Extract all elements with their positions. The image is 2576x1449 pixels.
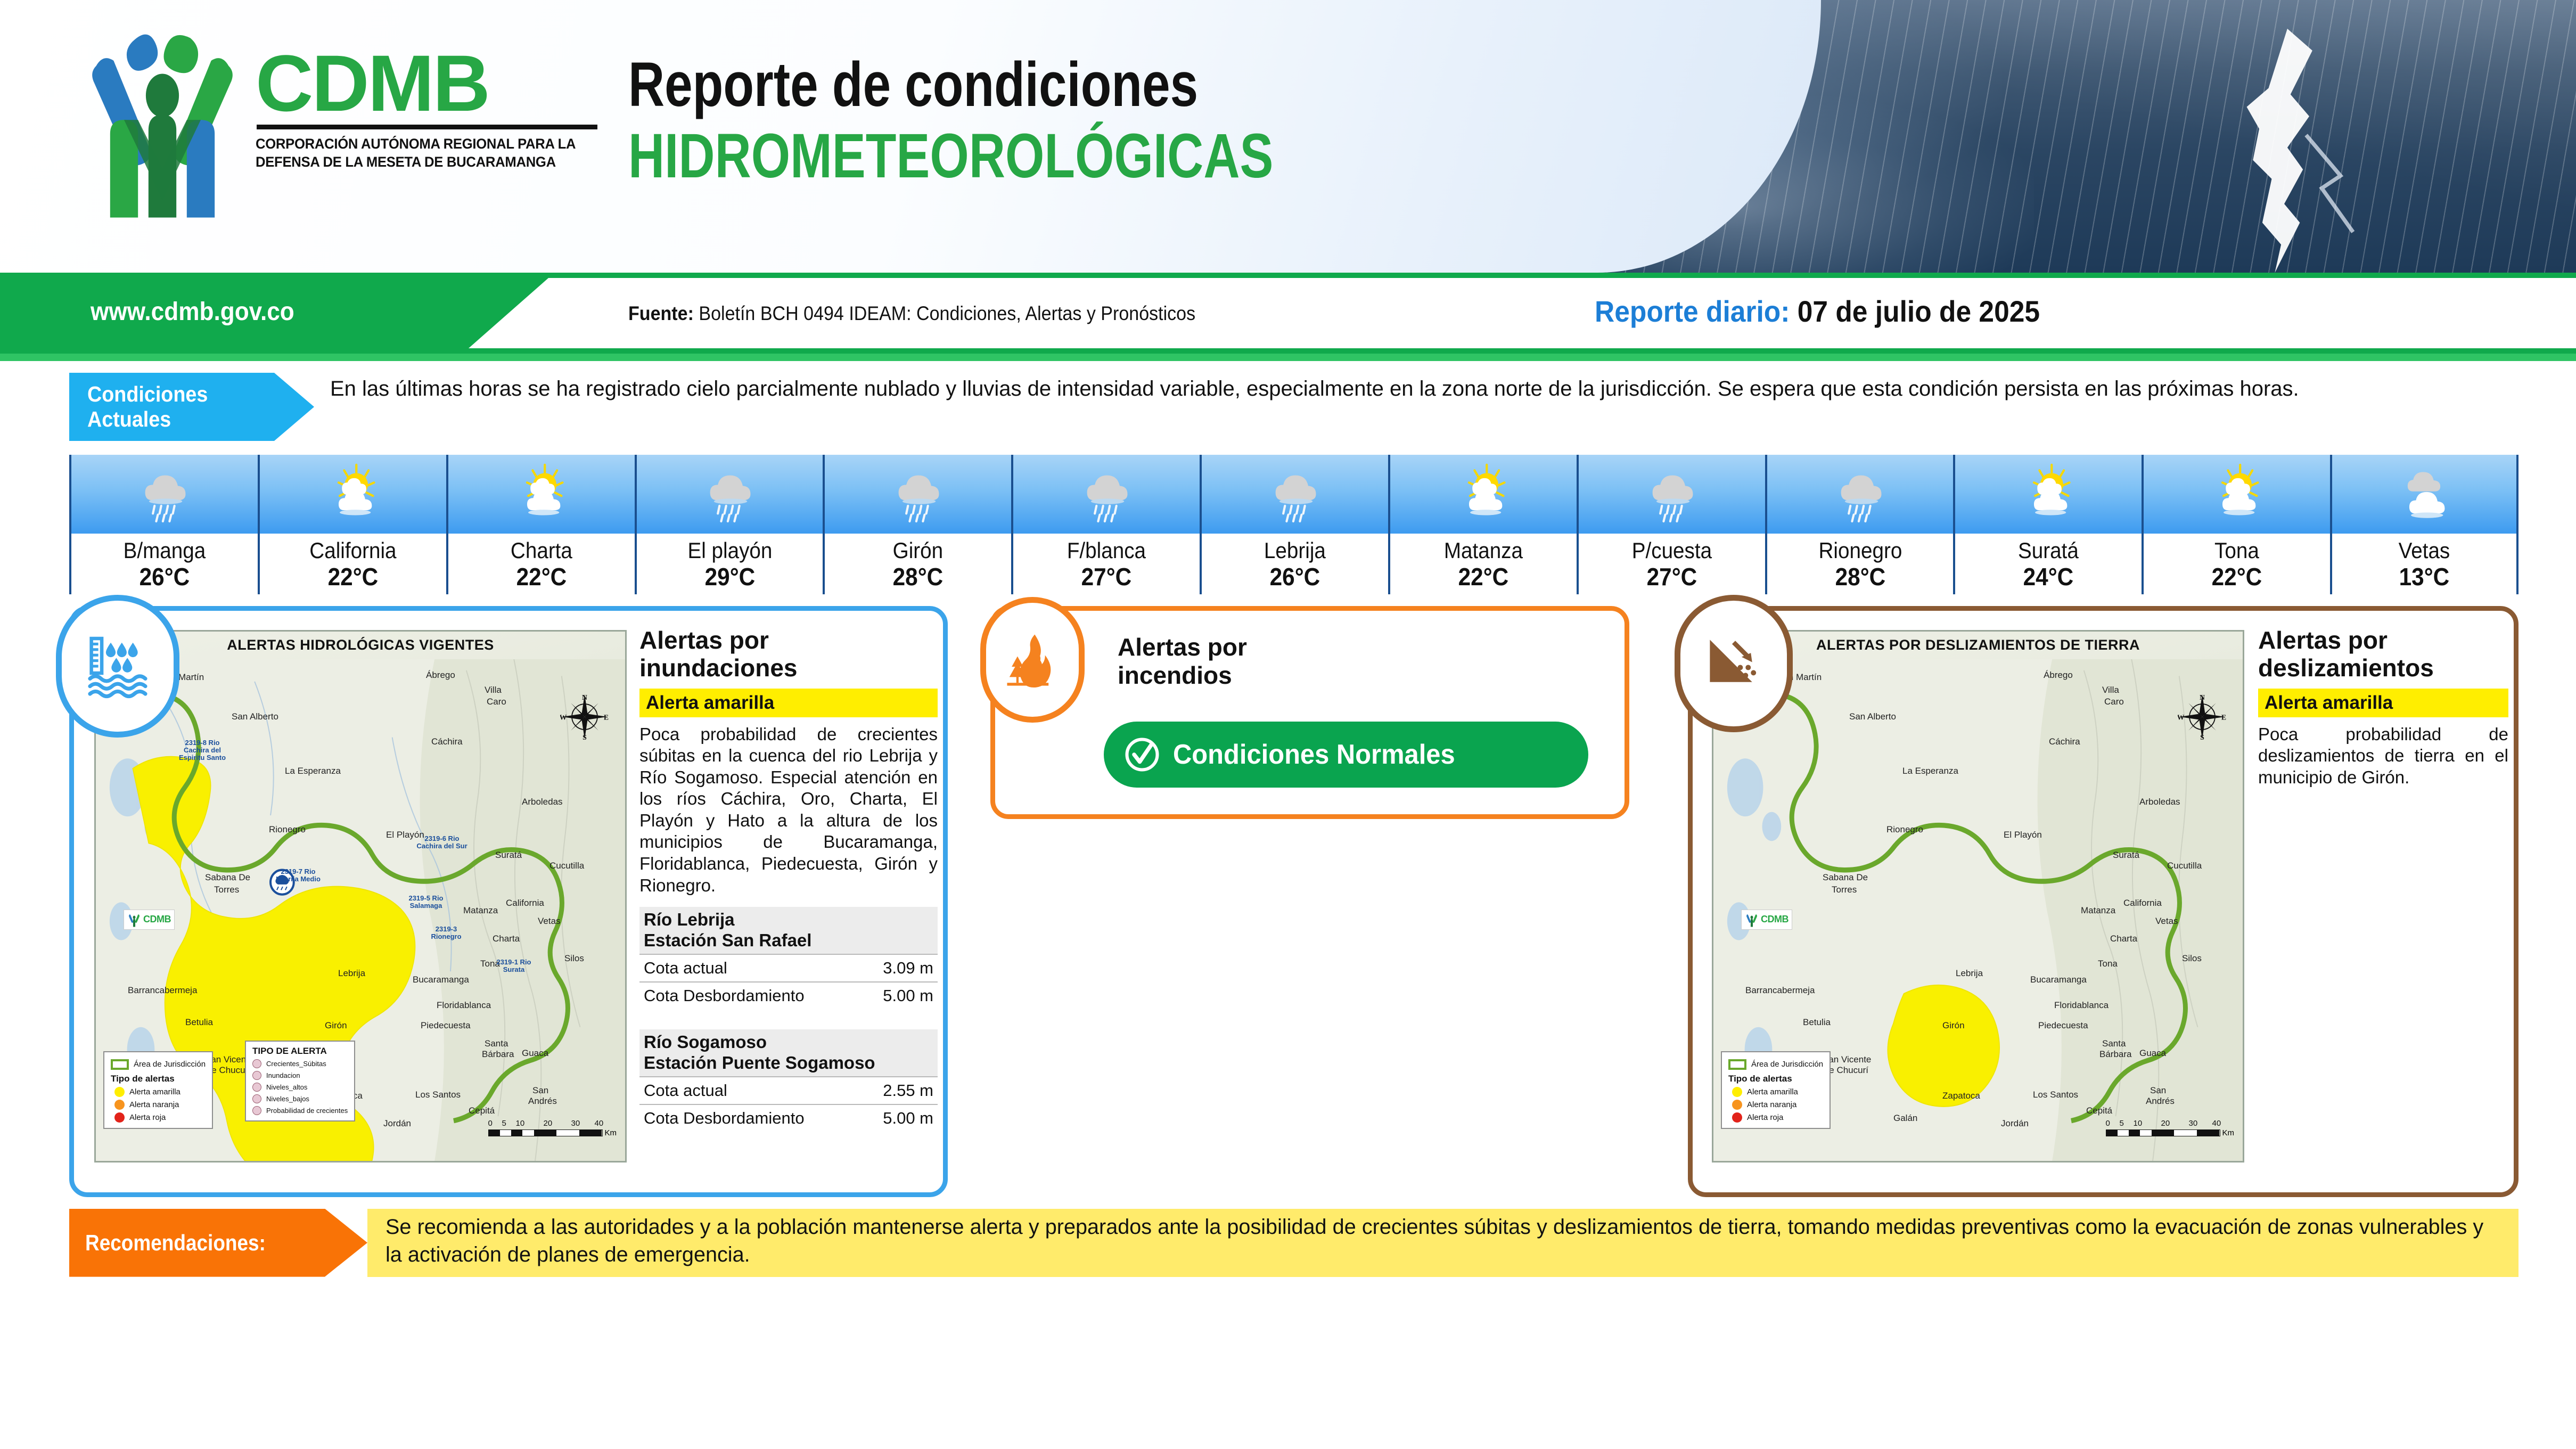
map-river-label: 2319-1 Rio Surata bbox=[487, 959, 540, 974]
alert-type-symbol-icon bbox=[252, 1094, 261, 1103]
municipality-name: Matanza bbox=[1398, 539, 1569, 562]
recommendations-tag-label: Recomendaciones: bbox=[85, 1230, 266, 1256]
svg-text:E: E bbox=[2221, 713, 2226, 721]
scale-tick: 0 bbox=[2106, 1119, 2110, 1128]
municipality-name: Charta bbox=[456, 539, 627, 562]
flood-station-tables: Río Lebrija Estación San Rafael Cota act… bbox=[639, 907, 938, 1132]
station-table: Río Sogamoso Estación Puente Sogamoso Co… bbox=[639, 1029, 938, 1132]
map-place-label: Floridablanca bbox=[437, 1000, 491, 1011]
map-place-label: Guaca bbox=[522, 1048, 548, 1059]
weather-icon-slot bbox=[1388, 455, 1577, 534]
alert-type-item: Niveles_altos bbox=[252, 1083, 348, 1092]
map-place-label: Barrancabermeja bbox=[128, 985, 197, 996]
map-place-label: San Alberto bbox=[232, 711, 278, 722]
temperature-cell-pcuesta[interactable]: P/cuesta 27°C bbox=[1577, 455, 1765, 594]
legend-color-dot bbox=[114, 1100, 125, 1110]
landslide-legend-jurisdiction-row: Área de Jurisdicción bbox=[1728, 1059, 1823, 1070]
svg-text:W: W bbox=[2178, 713, 2185, 721]
station-river: Río Sogamoso bbox=[644, 1032, 933, 1053]
rain-cloud-icon bbox=[1644, 463, 1700, 525]
flood-heading-line1: Alertas por bbox=[639, 627, 938, 654]
landslide-alert-level-badge: Alerta amarilla bbox=[2258, 689, 2508, 717]
alert-type-symbol-icon bbox=[252, 1106, 261, 1115]
legend-item: Alerta naranja bbox=[111, 1100, 206, 1110]
map-place-label: Santa bbox=[2102, 1038, 2126, 1049]
station-row-label: Cota actual bbox=[639, 1077, 860, 1104]
station-name: Estación Puente Sogamoso bbox=[644, 1053, 933, 1074]
municipality-temperature: 22°C bbox=[456, 563, 627, 591]
fire-heading: Alertas por incendios bbox=[1118, 633, 1247, 690]
landslide-heading-line2: deslizamientos bbox=[2258, 654, 2508, 682]
map-river-label: 2319-3 Rionegro bbox=[420, 926, 473, 941]
landslide-map-title: ALERTAS POR DESLIZAMIENTOS DE TIERRA bbox=[1713, 637, 2243, 653]
alert-type-label: Crecientes_Súbitas bbox=[266, 1060, 326, 1068]
current-conditions-tag: Condiciones Actuales bbox=[69, 373, 314, 441]
alert-type-label: Inundacion bbox=[266, 1071, 300, 1079]
map-place-label: Los Santos bbox=[415, 1090, 461, 1100]
map-place-label: Lebrija bbox=[1956, 968, 1983, 979]
map-river-label: 2319-8 Rio Cachira del Espiritu Santo bbox=[176, 739, 229, 762]
flood-description: Poca probabilidad de crecientes súbitas … bbox=[639, 724, 938, 897]
map-place-label: Ábrego bbox=[426, 670, 455, 681]
landslide-alert-panel: ALERTAS POR DESLIZAMIENTOS DE TIERRA bbox=[1688, 606, 2518, 1197]
map-place-label: Betulia bbox=[1803, 1017, 1831, 1028]
map-logo-text: CDMB bbox=[143, 914, 171, 925]
flood-heading-line2: inundaciones bbox=[639, 654, 938, 682]
jurisdiction-label: Área de Jurisdicción bbox=[134, 1060, 206, 1069]
municipality-temperature: 28°C bbox=[832, 563, 1004, 591]
map-place-label: Zapatoca bbox=[1942, 1091, 1980, 1101]
municipality-temperature: 27°C bbox=[1021, 563, 1192, 591]
alert-type-label: Niveles_altos bbox=[266, 1083, 307, 1091]
weather-icon-slot bbox=[446, 455, 635, 534]
map-place-label: Cáchira bbox=[431, 736, 463, 747]
station-row-value: 5.00 m bbox=[860, 982, 938, 1009]
alert-type-item: Niveles_bajos bbox=[252, 1094, 348, 1103]
alert-type-item: Crecientes_Súbitas bbox=[252, 1059, 348, 1068]
municipality-name: Rionegro bbox=[1775, 539, 1946, 562]
compass-rose-icon: N S W E bbox=[560, 692, 609, 744]
scale-tick: 10 bbox=[516, 1119, 525, 1128]
municipality-temperature: 22°C bbox=[267, 563, 439, 591]
scale-tick: 30 bbox=[2189, 1119, 2198, 1128]
station-row: Cota actual 3.09 m bbox=[639, 954, 938, 982]
municipality-temperature: 26°C bbox=[1209, 563, 1381, 591]
sun-behind-cloud-icon bbox=[2209, 463, 2265, 525]
landslide-map-legend: Área de Jurisdicción Tipo de alertas Ale… bbox=[1721, 1051, 1831, 1129]
sun-behind-cloud-icon bbox=[1456, 463, 1511, 525]
flood-badge bbox=[56, 595, 179, 738]
recommendations-tag: Recomendaciones: bbox=[69, 1209, 367, 1277]
legend-color-dot bbox=[1732, 1112, 1742, 1123]
title-line-1: Reporte de condiciones bbox=[628, 53, 1273, 116]
landslide-map-cdmb-logo: CDMB bbox=[1741, 910, 1792, 930]
report-date-label: Reporte diario: bbox=[1595, 294, 1790, 328]
website-url[interactable]: www.cdmb.gov.co bbox=[91, 297, 294, 326]
map-place-label: Sabana De bbox=[1823, 872, 1868, 883]
map-place-label: Guaca bbox=[2139, 1048, 2166, 1059]
station-river: Río Lebrija bbox=[644, 910, 933, 930]
logo-subtitle-line1: CORPORACIÓN AUTÓNOMA REGIONAL PARA LA bbox=[256, 135, 595, 153]
landslide-jurisdiction-label: Área de Jurisdicción bbox=[1751, 1060, 1823, 1069]
flood-alert-level-badge: Alerta amarilla bbox=[639, 689, 938, 717]
municipality-name: Tona bbox=[2151, 539, 2323, 562]
info-band: www.cdmb.gov.co Fuente: Boletín BCH 0494… bbox=[0, 273, 2576, 354]
legend-color-dot bbox=[1732, 1087, 1742, 1097]
municipality-temperature: 27°C bbox=[1586, 563, 1758, 591]
svg-text:S: S bbox=[2200, 733, 2204, 741]
weather-icon-slot bbox=[69, 455, 258, 534]
fire-forest-icon bbox=[1004, 630, 1061, 690]
cdmb-logo: CDMB CORPORACIÓN AUTÓNOMA REGIONAL PARA … bbox=[75, 29, 612, 237]
map-place-label: Los Santos bbox=[2033, 1090, 2078, 1100]
temperature-cell-matanza[interactable]: Matanza 22°C bbox=[1388, 455, 1577, 594]
legend-item-label: Alerta amarilla bbox=[1747, 1087, 1798, 1096]
legend-item-label: Alerta naranja bbox=[129, 1100, 179, 1109]
temperature-cell-surat[interactable]: Suratá 24°C bbox=[1953, 455, 2142, 594]
station-row-value: 3.09 m bbox=[860, 954, 938, 982]
scale-tick: 40 bbox=[595, 1119, 604, 1128]
alert-type-item: Inundacion bbox=[252, 1071, 348, 1080]
lightning-bolt-icon bbox=[2188, 26, 2380, 273]
flood-map-scale: 0510203040 Km bbox=[488, 1119, 617, 1137]
svg-text:S: S bbox=[583, 733, 587, 741]
landslide-map-canvas: San MartínSan AlbertoLa EsperanzaÁbregoV… bbox=[1713, 659, 2243, 1161]
map-place-label: Vetas bbox=[2155, 916, 2178, 927]
map-place-label: Jordán bbox=[2001, 1118, 2029, 1129]
weather-icon-slot bbox=[1200, 455, 1388, 534]
fire-status-badge: Condiciones Normales bbox=[1104, 722, 1588, 788]
conditions-tag-line2: Actuales bbox=[87, 407, 296, 432]
municipality-temperature: 13°C bbox=[2340, 563, 2509, 591]
recommendations-body: Se recomienda a las autoridades y a la p… bbox=[367, 1209, 2518, 1277]
map-place-label: San bbox=[532, 1085, 548, 1096]
map-place-label: Rionegro bbox=[269, 824, 306, 835]
alert-panels: ALERTAS HIDROLÓGICAS VIGENTES bbox=[69, 606, 2518, 1197]
map-place-label: Girón bbox=[325, 1020, 347, 1031]
map-place-label: Silos bbox=[2182, 953, 2202, 964]
flood-map-legend: Área de Jurisdicción Tipo de alertas Ale… bbox=[103, 1051, 213, 1129]
map-place-label: Andrés bbox=[2146, 1096, 2175, 1107]
weather-icon-slot bbox=[2330, 455, 2518, 534]
page-title: Reporte de condiciones HIDROMETEOROLÓGIC… bbox=[628, 53, 1434, 190]
scale-tick: 40 bbox=[2212, 1119, 2221, 1128]
alert-type-symbol-icon bbox=[252, 1059, 261, 1068]
fire-status-text: Condiciones Normales bbox=[1173, 739, 1455, 771]
temperature-cell-elplayn[interactable]: El playón 29°C bbox=[635, 455, 823, 594]
svg-text:E: E bbox=[604, 713, 609, 721]
municipality-temperature: 29°C bbox=[644, 563, 816, 591]
sun-behind-cloud-icon bbox=[514, 463, 569, 525]
landslide-map-scale: 0510203040 Km bbox=[2106, 1119, 2235, 1137]
flood-alert-panel: ALERTAS HIDROLÓGICAS VIGENTES bbox=[69, 606, 948, 1197]
municipality-name: Suratá bbox=[1963, 539, 2134, 562]
current-conditions-text: En las últimas horas se ha registrado ci… bbox=[330, 375, 2518, 403]
map-place-label: Vetas bbox=[538, 916, 561, 927]
map-place-label: Rionegro bbox=[1886, 824, 1923, 835]
landslide-scale-unit: Km bbox=[2222, 1128, 2235, 1137]
compass-rose-icon-landslide: N S W E bbox=[2178, 692, 2227, 744]
map-place-label: Silos bbox=[564, 953, 584, 964]
map-place-label: Charta bbox=[2110, 934, 2137, 944]
map-place-label: Piedecuesta bbox=[421, 1020, 471, 1031]
map-place-label: Cepitá bbox=[469, 1106, 495, 1116]
municipality-temperature: 22°C bbox=[2151, 563, 2323, 591]
map-place-label: California bbox=[506, 898, 544, 908]
svg-text:N: N bbox=[2200, 693, 2205, 701]
municipality-name: California bbox=[267, 539, 439, 562]
weather-icon-slot bbox=[1011, 455, 1200, 534]
fire-heading-line1: Alertas por bbox=[1118, 633, 1247, 661]
station-name: Estación San Rafael bbox=[644, 930, 933, 951]
recommendations-text: Se recomienda a las autoridades y a la p… bbox=[385, 1213, 2483, 1270]
band-bottom-rule bbox=[0, 354, 2576, 361]
map-place-label: Torres bbox=[214, 885, 239, 895]
alert-type-symbol-icon bbox=[252, 1071, 261, 1080]
station-row-value: 5.00 m bbox=[860, 1104, 938, 1132]
landslide-heading-line1: Alertas por bbox=[2258, 627, 2508, 654]
sun-behind-cloud-icon bbox=[325, 463, 381, 525]
map-place-label: Caro bbox=[487, 697, 506, 707]
scale-tick-labels: 0510203040 bbox=[488, 1119, 603, 1128]
station-row-label: Cota Desbordamiento bbox=[639, 982, 860, 1009]
rain-cloud-icon bbox=[137, 463, 192, 525]
temperature-cell-tona[interactable]: Tona 22°C bbox=[2142, 455, 2330, 594]
legend-item: Alerta roja bbox=[111, 1112, 206, 1123]
map-place-label: La Esperanza bbox=[1902, 766, 1958, 776]
station-row: Cota actual 2.55 m bbox=[639, 1077, 938, 1104]
cdmb-logo-mark-icon bbox=[75, 29, 250, 221]
map-place-label: Ábrego bbox=[2044, 670, 2073, 681]
station-row-label: Cota Desbordamiento bbox=[639, 1104, 860, 1132]
municipality-name: Lebrija bbox=[1209, 539, 1381, 562]
map-place-label: Villa bbox=[2102, 685, 2119, 695]
map-place-label: Jordán bbox=[383, 1118, 411, 1129]
scale-tick: 0 bbox=[488, 1119, 493, 1128]
map-place-label: Girón bbox=[1942, 1020, 1965, 1031]
map-place-label: Cáchira bbox=[2049, 736, 2080, 747]
weather-icon-slot bbox=[823, 455, 1011, 534]
map-place-label: Matanza bbox=[463, 905, 498, 916]
logo-wordmark: CDMB bbox=[256, 45, 612, 121]
fire-alert-panel: Alertas por incendios Condiciones Normal… bbox=[990, 606, 1629, 819]
station-table: Río Lebrija Estación San Rafael Cota act… bbox=[639, 907, 938, 1009]
municipality-name: B/manga bbox=[79, 539, 250, 562]
check-circle-icon bbox=[1123, 735, 1161, 774]
recommendations-bar: Recomendaciones: Se recomienda a las aut… bbox=[69, 1209, 2518, 1277]
weather-icon-slot bbox=[1577, 455, 1765, 534]
alert-type-label: Niveles_bajos bbox=[266, 1095, 309, 1103]
map-river-label: 2319-6 Rio Cachira del Sur bbox=[415, 835, 469, 850]
legend-item: Alerta amarilla bbox=[1728, 1087, 1823, 1097]
map-place-label: Torres bbox=[1832, 885, 1857, 895]
conditions-tag-line1: Condiciones bbox=[87, 382, 296, 407]
map-place-label: San Alberto bbox=[1849, 711, 1896, 722]
map-place-label: Bucaramanga bbox=[413, 975, 469, 985]
map-place-label: Santa bbox=[485, 1038, 508, 1049]
municipality-temperature: 22°C bbox=[1398, 563, 1569, 591]
temperature-cell-vetas[interactable]: Vetas 13°C bbox=[2330, 455, 2518, 594]
map-place-label: Tona bbox=[2098, 959, 2118, 969]
scale-tick: 5 bbox=[502, 1119, 506, 1128]
municipality-name: El playón bbox=[644, 539, 816, 562]
map-river-label: 2319-7 Rio Lebrija Medio bbox=[272, 868, 325, 883]
legend-item-label: Alerta naranja bbox=[1747, 1100, 1796, 1109]
alert-type-item: Probabilidad de crecientes bbox=[252, 1106, 348, 1115]
station-row: Cota Desbordamiento 5.00 m bbox=[639, 1104, 938, 1132]
landslide-scale-bar bbox=[2106, 1129, 2220, 1136]
map-place-label: Charta bbox=[493, 934, 520, 944]
flood-map[interactable]: ALERTAS HIDROLÓGICAS VIGENTES bbox=[94, 630, 627, 1163]
weather-icon-slot bbox=[1765, 455, 1954, 534]
scale-tick: 20 bbox=[544, 1119, 553, 1128]
temperature-cell-bmanga[interactable]: B/manga 26°C bbox=[69, 455, 258, 594]
weather-icon-slot bbox=[2142, 455, 2330, 534]
scale-bar bbox=[488, 1129, 603, 1136]
report-date-line: Reporte diario: 07 de julio de 2025 bbox=[1595, 294, 2040, 329]
title-line-2: HIDROMETEOROLÓGICAS bbox=[628, 124, 1273, 190]
municipality-name: P/cuesta bbox=[1586, 539, 1758, 562]
map-place-label: Arboledas bbox=[522, 797, 563, 807]
temperature-cell-charta[interactable]: Charta 22°C bbox=[446, 455, 635, 594]
rain-cloud-icon bbox=[1079, 463, 1134, 525]
map-place-label: Suratá bbox=[495, 850, 522, 861]
map-place-label: Caro bbox=[2104, 697, 2124, 707]
temperature-cell-lebrija[interactable]: Lebrija 26°C bbox=[1200, 455, 1388, 594]
temperature-cell-girn[interactable]: Girón 28°C bbox=[823, 455, 1011, 594]
scale-tick: 20 bbox=[2161, 1119, 2170, 1128]
scale-tick: 5 bbox=[2120, 1119, 2124, 1128]
alert-type-title: TIPO DE ALERTA bbox=[252, 1046, 348, 1057]
map-place-label: Cepitá bbox=[2086, 1106, 2112, 1116]
municipality-temperature: 24°C bbox=[1963, 563, 2134, 591]
legend-item-label: Alerta roja bbox=[129, 1113, 166, 1122]
map-place-label: Bárbara bbox=[2099, 1049, 2131, 1060]
map-place-label: Floridablanca bbox=[2054, 1000, 2109, 1011]
legend-item-label: Alerta amarilla bbox=[129, 1087, 181, 1096]
map-place-label: Cucutilla bbox=[2167, 861, 2202, 871]
temperature-cell-california[interactable]: California 22°C bbox=[258, 455, 446, 594]
landslide-legend-title: Tipo de alertas bbox=[1728, 1074, 1823, 1084]
alert-type-label: Probabilidad de crecientes bbox=[266, 1107, 348, 1115]
source-text: Boletín BCH 0494 IDEAM: Condiciones, Ale… bbox=[699, 302, 1195, 324]
scale-tick: 10 bbox=[2134, 1119, 2143, 1128]
legend-color-dot bbox=[114, 1087, 125, 1097]
legend-item-label: Alerta roja bbox=[1747, 1113, 1783, 1122]
flood-map-canvas: San MartínSan AlbertoLa EsperanzaÁbregoV… bbox=[96, 659, 625, 1161]
legend-jurisdiction-row: Área de Jurisdicción bbox=[111, 1059, 206, 1070]
rain-cloud-icon bbox=[1267, 463, 1323, 525]
map-place-label: Lebrija bbox=[338, 968, 365, 979]
station-row-label: Cota actual bbox=[639, 954, 860, 982]
rain-cloud-icon bbox=[890, 463, 946, 525]
municipality-name: F/blanca bbox=[1021, 539, 1192, 562]
legend-item: Alerta roja bbox=[1728, 1112, 1823, 1123]
map-place-label: San bbox=[2150, 1085, 2166, 1096]
municipality-name: Vetas bbox=[2340, 539, 2509, 562]
weather-icon-slot bbox=[635, 455, 823, 534]
water-level-gauge-icon bbox=[83, 632, 152, 701]
logo-subtitle-line2: DEFENSA DE LA MESETA DE BUCARAMANGA bbox=[256, 153, 595, 171]
temperature-cell-rionegro[interactable]: Rionegro 28°C bbox=[1765, 455, 1954, 594]
map-place-label: Villa bbox=[485, 685, 502, 695]
map-place-label: Piedecuesta bbox=[2038, 1020, 2088, 1031]
map-place-label: Sabana De bbox=[205, 872, 250, 883]
station-row-value: 2.55 m bbox=[860, 1077, 938, 1104]
cloudy-icon bbox=[2397, 463, 2452, 525]
map-place-label: Barrancabermeja bbox=[1745, 985, 1815, 996]
map-place-label: Galán bbox=[1893, 1113, 1917, 1124]
map-place-label: Suratá bbox=[2113, 850, 2139, 861]
scale-tick: 30 bbox=[571, 1119, 580, 1128]
alert-type-symbol-icon bbox=[252, 1083, 261, 1092]
map-place-label: Matanza bbox=[2081, 905, 2115, 916]
map-place-label: California bbox=[2123, 898, 2162, 908]
rain-cloud-icon bbox=[1833, 463, 1888, 525]
landslide-map[interactable]: ALERTAS POR DESLIZAMIENTOS DE TIERRA bbox=[1712, 630, 2244, 1163]
map-place-label: Bucaramanga bbox=[2030, 975, 2087, 985]
fire-badge bbox=[980, 597, 1085, 723]
scale-unit: Km bbox=[605, 1128, 617, 1137]
source-line: Fuente: Boletín BCH 0494 IDEAM: Condicio… bbox=[628, 302, 1195, 325]
current-conditions: Condiciones Actuales En las últimas hora… bbox=[69, 373, 2518, 441]
legend-item: Alerta amarilla bbox=[111, 1087, 206, 1097]
municipality-name: Girón bbox=[832, 539, 1004, 562]
municipality-temperature: 26°C bbox=[79, 563, 250, 591]
rain-cloud-icon bbox=[702, 463, 757, 525]
fire-heading-line2: incendios bbox=[1118, 661, 1247, 690]
map-place-label: Andrés bbox=[528, 1096, 557, 1107]
landslide-jurisdiction-swatch bbox=[1728, 1059, 1746, 1070]
map-place-label: Arboledas bbox=[2139, 797, 2180, 807]
map-river-label: 2319-5 Rio Salamaga bbox=[399, 895, 453, 910]
temperature-strip: B/manga 26°C California 22°C bbox=[69, 455, 2518, 594]
station-row: Cota Desbordamiento 5.00 m bbox=[639, 982, 938, 1009]
map-cdmb-logo: CDMB bbox=[124, 910, 175, 930]
landslide-badge bbox=[1675, 595, 1793, 732]
map-place-label: El Playón bbox=[2004, 830, 2042, 840]
sun-behind-cloud-icon bbox=[2021, 463, 2076, 525]
source-label: Fuente: bbox=[628, 302, 694, 324]
map-place-label: La Esperanza bbox=[285, 766, 341, 776]
landslide-scale-tick-labels: 0510203040 bbox=[2106, 1119, 2220, 1128]
flood-info-column: Alertas por inundaciones Alerta amarilla… bbox=[639, 627, 938, 1132]
municipality-temperature: 28°C bbox=[1775, 563, 1946, 591]
landslide-info-column: Alertas por deslizamientos Alerta amaril… bbox=[2258, 627, 2508, 789]
map-place-label: Bárbara bbox=[482, 1049, 514, 1060]
landslide-map-logo-text: CDMB bbox=[1761, 914, 1789, 925]
landslide-slope-icon bbox=[1701, 631, 1767, 697]
svg-text:N: N bbox=[582, 693, 587, 701]
legend-color-dot bbox=[1732, 1100, 1742, 1110]
weather-icon-slot bbox=[258, 455, 446, 534]
svg-text:W: W bbox=[560, 713, 567, 721]
legend-color-dot bbox=[114, 1112, 125, 1123]
report-date-value: 07 de julio de 2025 bbox=[1798, 294, 2040, 328]
legend-item: Alerta naranja bbox=[1728, 1100, 1823, 1110]
map-place-label: Betulia bbox=[185, 1017, 213, 1028]
legend-title: Tipo de alertas bbox=[111, 1074, 206, 1084]
flood-alert-type-legend: TIPO DE ALERTA Crecientes_Súbitas Inunda… bbox=[245, 1041, 355, 1121]
jurisdiction-swatch bbox=[111, 1059, 129, 1070]
map-place-label: Cucutilla bbox=[549, 861, 584, 871]
page-header: CDMB CORPORACIÓN AUTÓNOMA REGIONAL PARA … bbox=[0, 0, 2576, 273]
landslide-description: Poca probabilidad de deslizamientos de t… bbox=[2258, 724, 2508, 789]
temperature-cell-fblanca[interactable]: F/blanca 27°C bbox=[1011, 455, 1200, 594]
weather-icon-slot bbox=[1953, 455, 2142, 534]
